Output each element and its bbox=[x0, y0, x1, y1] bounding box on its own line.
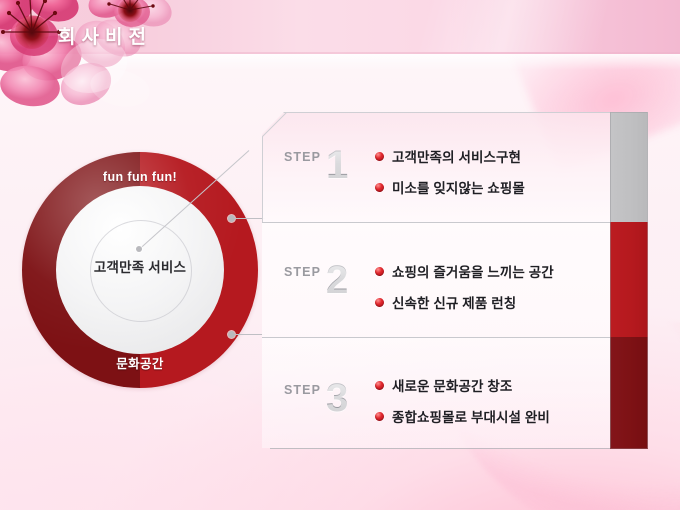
step-2-bullet-2-text: 신속한 신규 제품 런칭 bbox=[392, 292, 516, 312]
connector-line-step-3 bbox=[235, 334, 265, 335]
bullet-dot-icon bbox=[375, 381, 384, 390]
donut-arc-label-bottom: 문화공간 bbox=[22, 353, 258, 372]
step-2-bullet-1-text: 쇼핑의 즐거움을 느끼는 공간 bbox=[392, 261, 554, 281]
step-1-number: 1 bbox=[326, 145, 348, 185]
bullet-dot-icon bbox=[375, 183, 384, 192]
step-2-bullet-2: 신속한 신규 제품 런칭 bbox=[375, 292, 516, 312]
connector-dot-step-3 bbox=[228, 331, 235, 338]
status-bar-step-1 bbox=[610, 112, 648, 223]
step-panel-1[interactable] bbox=[262, 112, 610, 223]
status-bar-step-3 bbox=[610, 337, 648, 449]
bottom-divider-rule bbox=[270, 448, 610, 449]
step-1-bullet-1: 고객만족의 서비스구현 bbox=[375, 146, 521, 166]
step-1-bullet-2: 미소를 잊지않는 쇼핑몰 bbox=[375, 177, 525, 197]
status-bar-step-2 bbox=[610, 222, 648, 337]
step-3-bullet-1-text: 새로운 문화공간 창조 bbox=[392, 375, 512, 395]
step-3-bullet-2: 종합쇼핑몰로 부대시설 완비 bbox=[375, 406, 550, 426]
flower-graphic bbox=[0, 0, 190, 113]
step-1-bullet-2-text: 미소를 잊지않는 쇼핑몰 bbox=[392, 177, 525, 197]
step-3-bullet-2-text: 종합쇼핑몰로 부대시설 완비 bbox=[392, 406, 550, 426]
step-2-number: 2 bbox=[326, 260, 348, 300]
step-1-label: STEP bbox=[284, 150, 321, 164]
step-2-label: STEP bbox=[284, 265, 321, 279]
bullet-dot-icon bbox=[375, 152, 384, 161]
donut-center-label: 고객만족 서비스 bbox=[22, 256, 258, 276]
page-title: 회사비전 bbox=[58, 22, 152, 49]
presentation-slide: 회사비전 fun fun fun! 문화공간 고객만족 서비스 STEP 1 고… bbox=[0, 0, 680, 510]
connector-line-step-2 bbox=[235, 218, 265, 219]
donut-chart: fun fun fun! 문화공간 고객만족 서비스 bbox=[22, 152, 258, 388]
step-3-bullet-1: 새로운 문화공간 창조 bbox=[375, 375, 512, 395]
bullet-dot-icon bbox=[375, 267, 384, 276]
step-panel-1-left-edge bbox=[262, 137, 263, 222]
connector-dot-center bbox=[136, 246, 142, 252]
bullet-dot-icon bbox=[375, 298, 384, 307]
flower-decoration bbox=[0, 0, 190, 113]
step-panel-1-corner-edge bbox=[262, 112, 288, 138]
step-2-bullet-1: 쇼핑의 즐거움을 느끼는 공간 bbox=[375, 261, 554, 281]
step-3-label: STEP bbox=[284, 383, 321, 397]
connector-dot-step-2 bbox=[228, 215, 235, 222]
bullet-dot-icon bbox=[375, 412, 384, 421]
step-3-number: 3 bbox=[326, 378, 348, 418]
step-1-bullet-1-text: 고객만족의 서비스구현 bbox=[392, 146, 521, 166]
